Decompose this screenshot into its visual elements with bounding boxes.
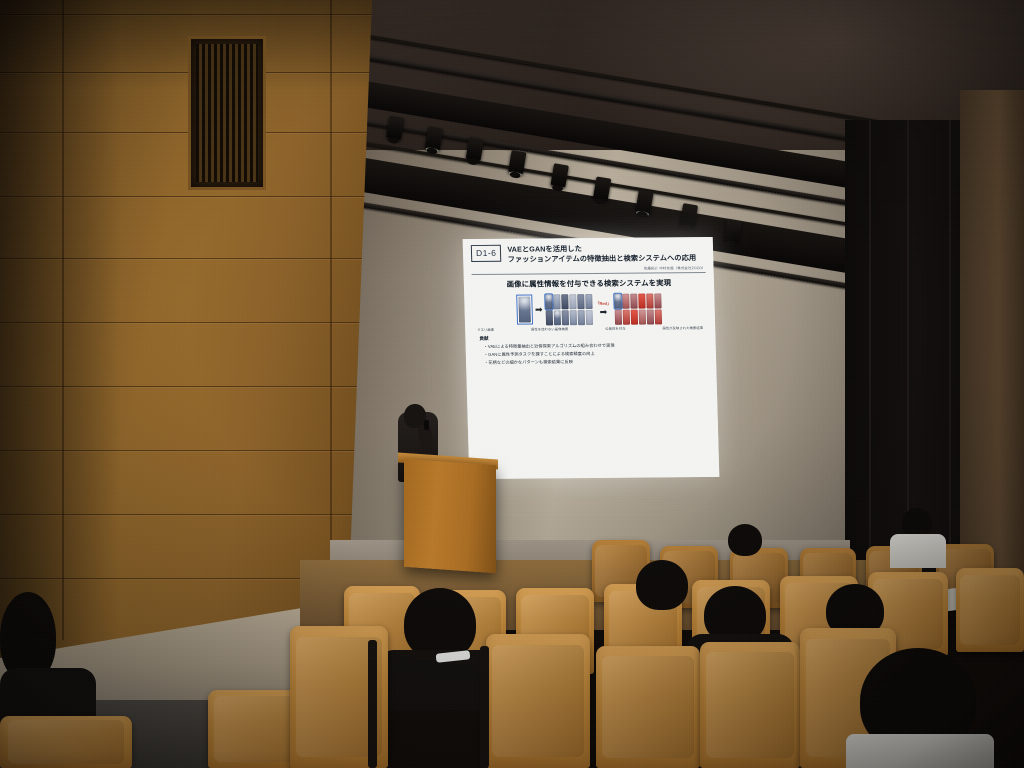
attendee-torso	[846, 734, 994, 768]
ventilation-grille	[188, 36, 266, 190]
diagram-captions: クエリ画像 属性を使わない画像検索 の属性を付与 属性が反映された検索結果	[473, 324, 707, 332]
dress-thumbnail	[554, 310, 561, 325]
seat-frame	[368, 640, 377, 768]
dress-thumbnail	[654, 293, 661, 308]
dress-thumbnail	[646, 309, 653, 324]
dress-thumbnail	[519, 297, 532, 323]
presentation-slide: D1-6 VAEとGANを活用した ファッションアイテムの特徴抽出と検索システム…	[463, 237, 720, 479]
seat	[486, 634, 590, 768]
right-side-wall	[960, 90, 1024, 610]
contribution-bullet: 花柄などの細かなパターンも検索結果に反映	[484, 358, 708, 366]
caption-baseline: 属性を使わない画像検索	[531, 326, 569, 331]
arrow-icon: ➡	[600, 308, 608, 317]
attendee-head	[636, 560, 688, 610]
dress-thumbnail	[646, 293, 653, 308]
slide-authors: 佐藤拓介 中村友哉（株式会社ZOZO）	[471, 265, 705, 272]
dress-thumbnail	[630, 293, 637, 308]
dress-thumbnail	[638, 309, 645, 324]
dress-thumbnail	[570, 310, 577, 325]
dress-thumbnail	[578, 310, 585, 325]
caption-query: クエリ画像	[477, 327, 494, 332]
dress-thumbnail	[614, 309, 621, 324]
dress-thumbnail	[562, 310, 569, 325]
dress-thumbnail	[622, 293, 629, 308]
microphone	[424, 420, 429, 430]
dress-thumbnail	[546, 310, 553, 325]
dress-thumbnail	[630, 309, 637, 324]
retrieval-diagram: ➡ 「Red」 ➡	[472, 293, 707, 326]
dress-thumbnail	[586, 310, 593, 325]
stage-spotlight	[466, 137, 484, 161]
dress-thumbnail	[614, 293, 621, 308]
projection-screen: D1-6 VAEとGANを活用した ファッションアイテムの特徴抽出と検索システム…	[463, 237, 720, 479]
seat-frame	[480, 646, 489, 768]
caption-result: 属性が反映された検索結果	[662, 325, 703, 330]
podium	[404, 459, 496, 573]
caption-attribute: の属性を付与	[605, 325, 626, 330]
dress-thumbnail	[654, 309, 661, 324]
slide-statement: 画像に属性情報を付与できる検索システムを実現	[472, 277, 706, 290]
slide-header: D1-6 VAEとGANを活用した ファッションアイテムの特徴抽出と検索システム…	[471, 243, 706, 266]
dress-thumbnail	[561, 294, 568, 309]
slide-title-line2: ファッションアイテムの特徴抽出と検索システムへの応用	[508, 254, 697, 266]
dress-thumbnail	[545, 294, 552, 309]
seat	[596, 646, 700, 768]
dress-thumbnail	[577, 294, 584, 309]
attendee-torso	[890, 534, 946, 568]
attribute-results-grid	[614, 293, 662, 324]
auditorium-photo: D1-6 VAEとGANを活用した ファッションアイテムの特徴抽出と検索システム…	[0, 0, 1024, 768]
dress-thumbnail	[569, 294, 576, 309]
seat	[956, 568, 1024, 652]
stage-spotlight	[551, 163, 569, 187]
seat	[700, 642, 800, 768]
stage-spotlight	[425, 126, 443, 150]
slide-title: VAEとGANを活用した ファッションアイテムの特徴抽出と検索システムへの応用	[507, 243, 696, 266]
contribution-bullet: VAEによる特徴量抽出と近傍探索アルゴリズムの組み合わせで実現	[484, 342, 708, 350]
contribution-bullet: GANに属性予測タスクを課すことによる検索精度の向上	[484, 350, 708, 358]
dress-thumbnail	[638, 293, 645, 308]
arrow-icon: ➡	[535, 305, 543, 314]
seat	[0, 716, 132, 768]
session-id-badge: D1-6	[471, 245, 502, 262]
slide-divider	[472, 272, 706, 275]
dress-thumbnail	[585, 294, 592, 309]
stage-spotlight	[593, 176, 611, 200]
query-image-box	[518, 296, 533, 324]
stage-spotlight	[386, 115, 404, 139]
dress-thumbnail	[622, 309, 629, 324]
contributions-heading: 貢献	[479, 334, 707, 342]
dress-thumbnail	[553, 294, 560, 309]
baseline-results-grid	[545, 294, 593, 325]
slide-title-line1: VAEとGANを活用した	[507, 244, 582, 254]
attendee-head	[728, 524, 762, 556]
